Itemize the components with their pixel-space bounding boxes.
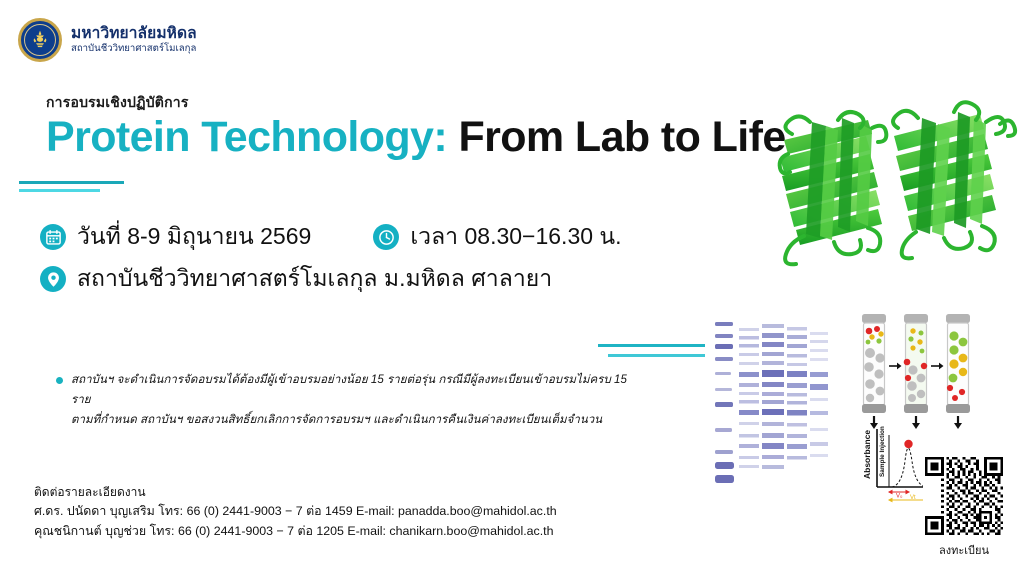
qr-code-icon[interactable] <box>925 457 1003 535</box>
step-arrow-1 <box>889 363 902 370</box>
conditions-note-line1: สถาบันฯ จะดำเนินการจัดอบรมได้ต้องมีผู้เข… <box>71 370 636 410</box>
mahidol-logo-block: มหาวิทยาลัยมหิดล สถาบันชีววิทยาศาสตร์โมเ… <box>18 18 197 62</box>
gfp-beta-barrel-ribbon-icon <box>770 100 1020 290</box>
chromatogram-injection-label: Sample Injection <box>879 426 886 477</box>
contact-person-2: คุณชนิกานต์ บุญช่วย โทร: 66 (0) 2441-900… <box>34 522 557 542</box>
column-tube-2 <box>904 314 928 413</box>
mahidol-seal-icon <box>18 18 62 62</box>
chromatogram-vt-label: Vt <box>910 495 916 501</box>
bullet-dot-icon <box>56 377 63 384</box>
title-primary: Protein Technology: <box>46 113 447 161</box>
column-tube-3 <box>946 314 970 413</box>
contact-person-1: ศ.ดร. ปนัดดา บุญเสริม โทร: 66 (0) 2441-9… <box>34 502 557 522</box>
protein-structure-figure <box>770 100 1020 290</box>
event-time-pair: เวลา 08.30−16.30 น. <box>373 219 621 255</box>
registration-block[interactable]: ลงทะเบียน <box>921 455 1007 559</box>
contact-block: ติดต่อรายละเอียดงาน ศ.ดร. ปนัดดา บุญเสริ… <box>34 483 557 541</box>
conditions-note: สถาบันฯ จะดำเนินการจัดอบรมได้ต้องมีผู้เข… <box>56 370 636 430</box>
location-pin-icon <box>40 266 66 292</box>
mid-divider-primary <box>598 344 718 347</box>
event-kicker: การอบรมเชิงปฏิบัติการ <box>46 92 189 114</box>
event-date-pair: วันที่ 8-9 มิถุนายน 2569 <box>40 219 311 255</box>
logo-text-group: มหาวิทยาลัยมหิดล สถาบันชีววิทยาศาสตร์โมเ… <box>71 25 197 55</box>
event-time-label: เวลา 08.30−16.30 น. <box>410 219 621 255</box>
mid-divider-secondary <box>608 354 718 357</box>
title-underline-primary <box>19 181 124 184</box>
contact-heading: ติดต่อรายละเอียดงาน <box>34 483 557 502</box>
event-info-row-datetime: วันที่ 8-9 มิถุนายน 2569 เวลา 08.30−16.3… <box>40 216 622 258</box>
chromatogram-ylabel: Absorbance <box>862 430 872 479</box>
university-name: มหาวิทยาลัยมหิดล <box>71 25 197 42</box>
sds-page-gel-icon <box>705 310 845 510</box>
protein-barrel-left <box>780 112 887 264</box>
registration-qr-code[interactable] <box>923 455 1005 537</box>
poster-canvas: มหาวิทยาลัยมหิดล สถาบันชีววิทยาศาสตร์โมเ… <box>0 0 1024 564</box>
event-info-block: วันที่ 8-9 มิถุนายน 2569 เวลา 08.30−16.3… <box>40 216 622 300</box>
conditions-note-line2: ตามที่กำหนด สถาบันฯ ขอสงวนสิทธิ์ยกเลิกกา… <box>71 410 636 430</box>
protein-gel-figure <box>705 310 845 510</box>
event-date-label: วันที่ 8-9 มิถุนายน 2569 <box>77 219 311 255</box>
event-venue-label: สถาบันชีววิทยาศาสตร์โมเลกุล ม.มหิดล ศาลา… <box>77 261 552 297</box>
conditions-note-text: สถาบันฯ จะดำเนินการจัดอบรมได้ต้องมีผู้เข… <box>71 370 636 430</box>
column-tube-1 <box>862 314 886 413</box>
institute-name: สถาบันชีววิทยาศาสตร์โมเลกุล <box>71 43 197 55</box>
protein-barrel-right <box>893 102 1015 258</box>
title-underline-secondary <box>19 189 100 192</box>
registration-caption: ลงทะเบียน <box>921 541 1007 559</box>
page-title: Protein Technology: From Lab to Life <box>46 116 786 159</box>
event-info-row-venue: สถาบันชีววิทยาศาสตร์โมเลกุล ม.มหิดล ศาลา… <box>40 258 622 300</box>
chromatogram-vo-label: V₀ <box>896 494 903 500</box>
clock-icon <box>373 224 399 250</box>
step-arrow-2 <box>931 363 944 370</box>
seal-emblem-icon <box>27 27 53 53</box>
title-secondary: From Lab to Life <box>458 113 785 161</box>
calendar-icon <box>40 224 66 250</box>
